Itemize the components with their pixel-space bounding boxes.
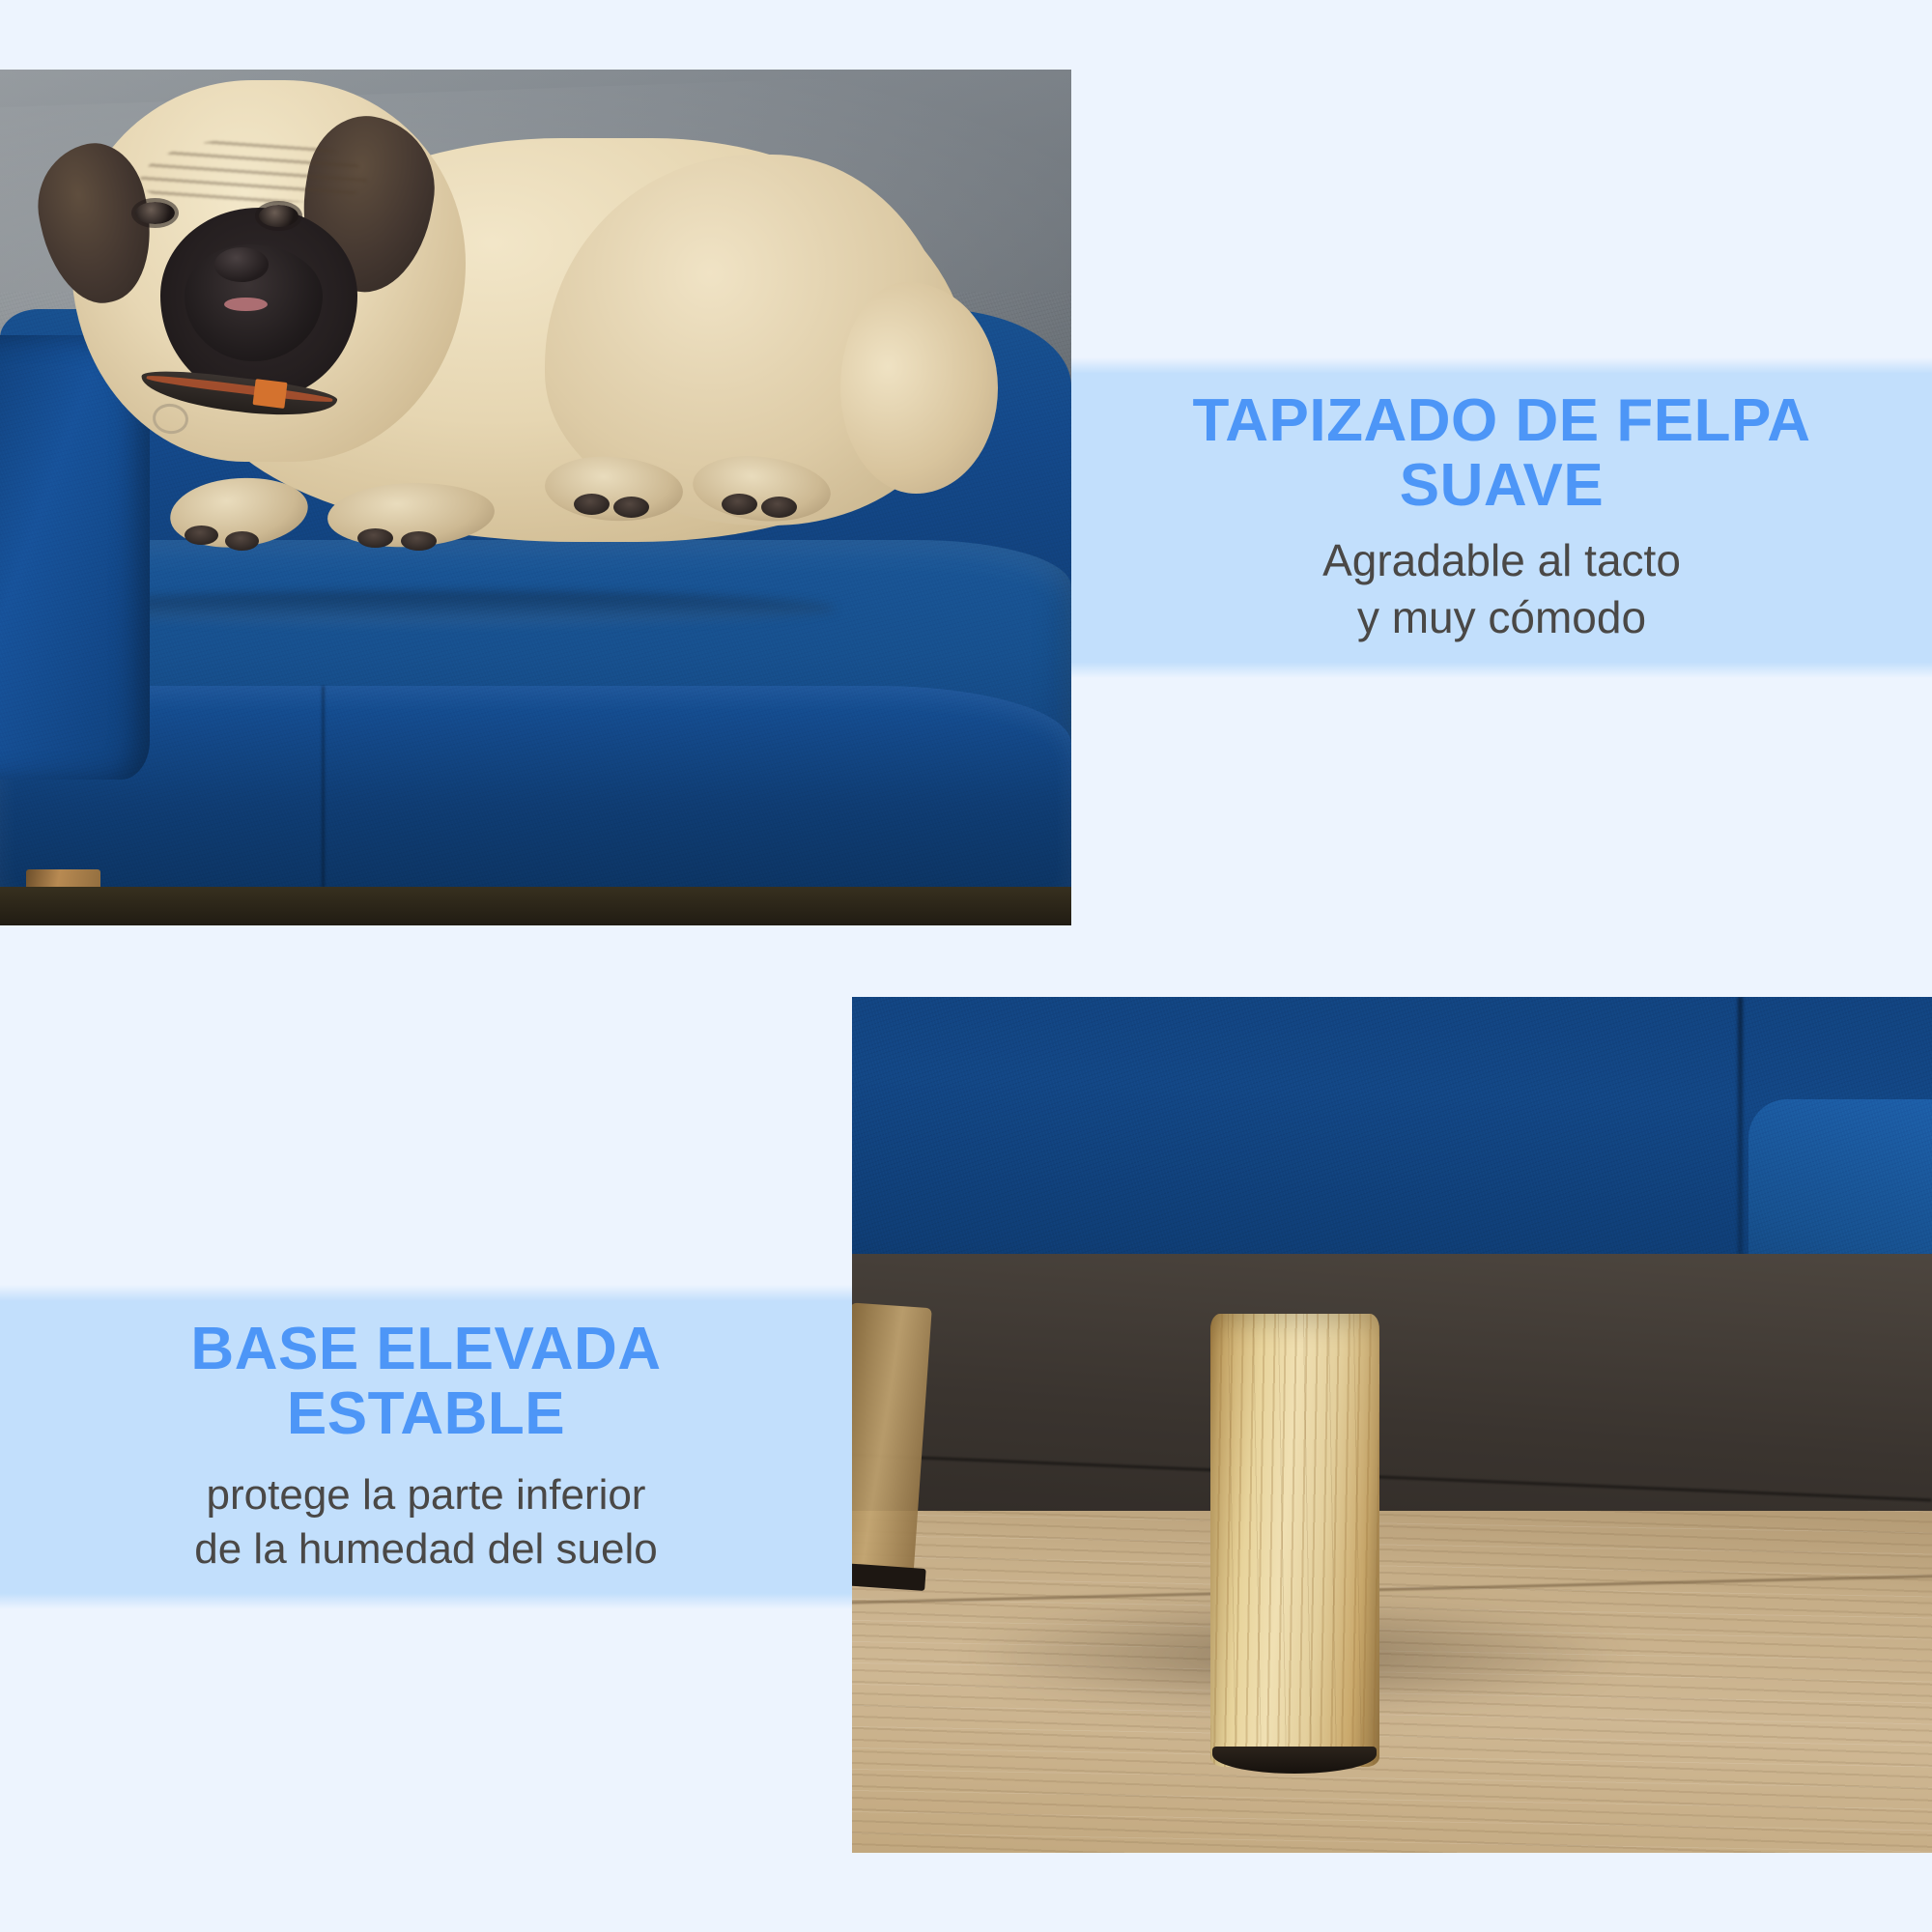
pug-nose	[214, 247, 269, 282]
callout-heading: BASE ELEVADA ESTABLE	[190, 1318, 661, 1447]
floor-strip	[0, 887, 1071, 925]
photo-plush-upholstery	[0, 70, 1071, 925]
pug-dog	[32, 70, 1017, 600]
pug-paw-toe	[613, 497, 649, 518]
pug-paw-toe	[761, 497, 797, 518]
callout-subtitle: protege la parte inferior de la humedad …	[194, 1468, 657, 1577]
pug-paw-toe	[357, 528, 393, 548]
pug-paw-toe	[225, 531, 259, 551]
callout-subtitle: Agradable al tacto y muy cómodo	[1322, 532, 1681, 646]
pug-paw-toe	[401, 531, 437, 551]
pug-rear-fur	[840, 282, 998, 495]
callout-heading: TAPIZADO DE FELPA SUAVE	[1189, 389, 1815, 519]
sofa-leg-wood-grain	[1210, 1314, 1378, 1768]
pug-collar-buckle	[252, 379, 287, 409]
product-feature-poster: TAPIZADO DE FELPA SUAVE Agradable al tac…	[0, 0, 1932, 1932]
photo-raised-base	[852, 997, 1932, 1853]
callout-raised-base: BASE ELEVADA ESTABLE protege la parte in…	[0, 1285, 852, 1609]
pug-eye-right	[259, 205, 298, 227]
callout-plush-upholstery: TAPIZADO DE FELPA SUAVE Agradable al tac…	[1071, 357, 1932, 678]
